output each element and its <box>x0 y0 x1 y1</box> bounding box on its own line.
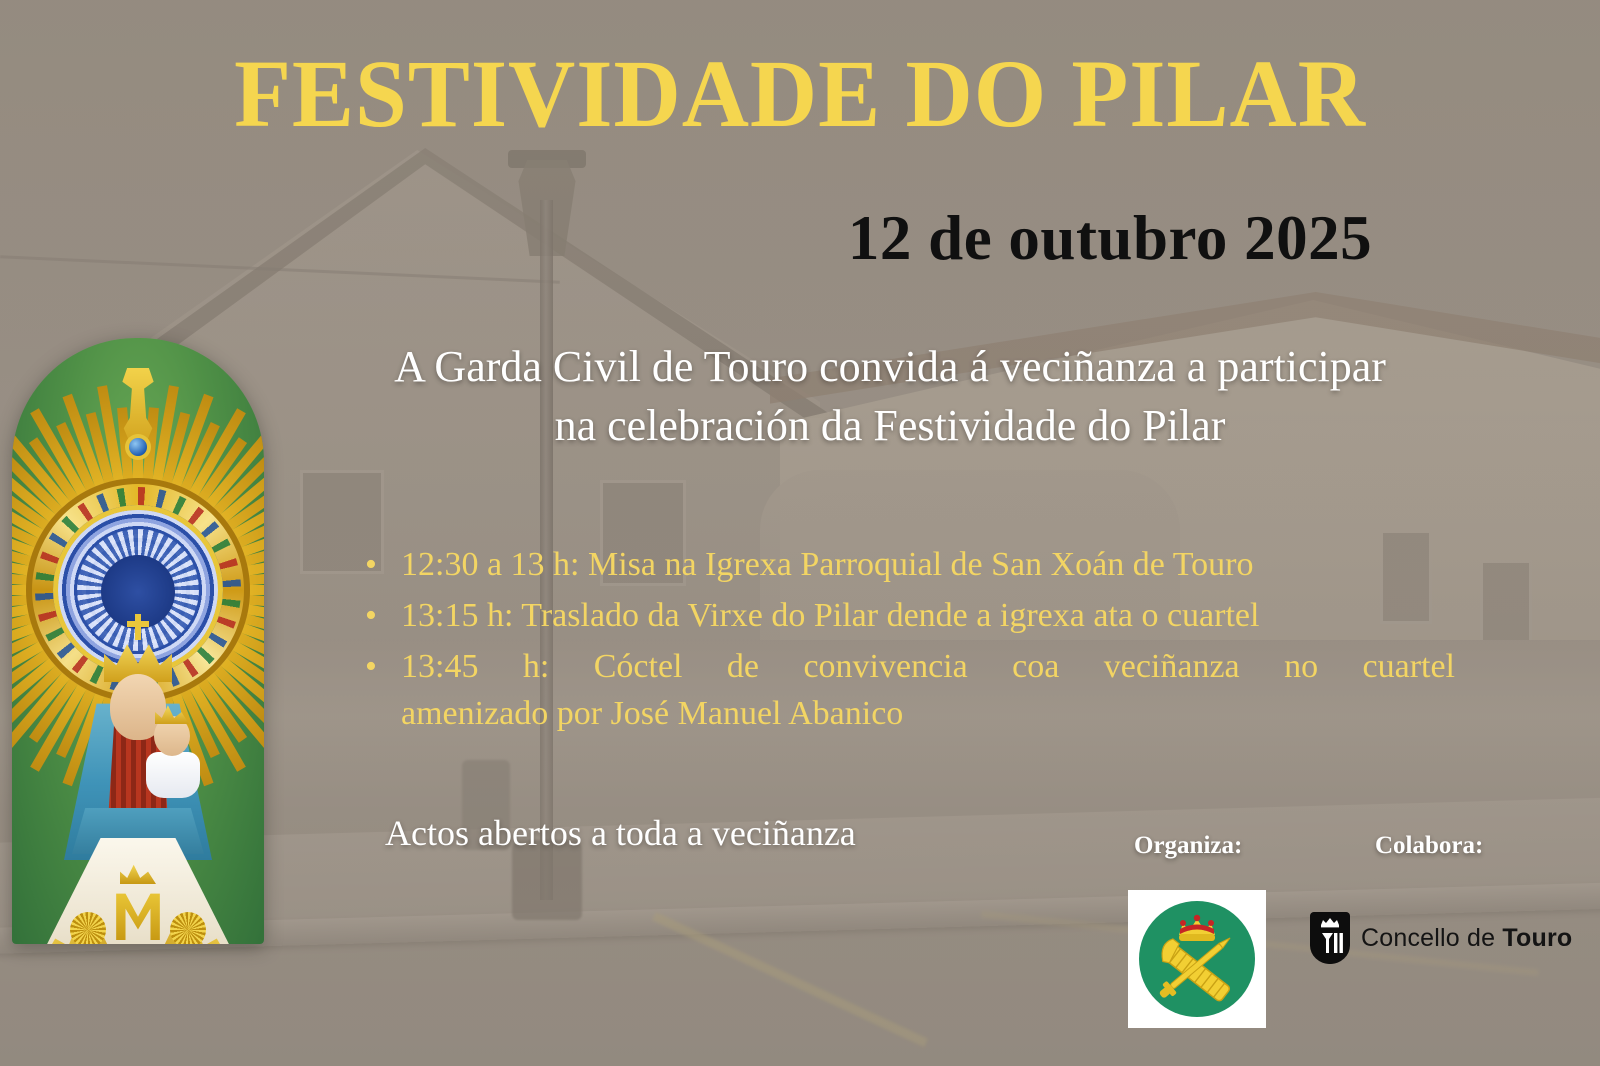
concello-de-touro-text: Concello de Touro <box>1361 924 1572 953</box>
bullet-icon: • <box>365 644 401 691</box>
touro-name: Touro <box>1502 924 1572 952</box>
credits-section: Organiza: Colabora: <box>1110 832 1580 1062</box>
schedule-item-line-1: 13:45 h: Cóctel de convivencia coa veciñ… <box>401 644 1455 691</box>
embroidered-robe <box>34 838 242 944</box>
event-date: 12 de outubro 2025 <box>760 202 1460 275</box>
invitation-line-1: A Garda Civil de Touro convida á veciñan… <box>250 338 1530 397</box>
child-body <box>146 752 200 798</box>
robe-crown-ornament <box>120 864 156 884</box>
invitation-text: A Garda Civil de Touro convida á veciñan… <box>250 338 1530 456</box>
schedule-item: • 13:15 h: Traslado da Virxe do Pilar de… <box>365 593 1455 640</box>
schedule-list: • 12:30 a 13 h: Misa na Igrexa Parroquia… <box>365 542 1455 742</box>
schedule-item-text: 12:30 a 13 h: Misa na Igrexa Parroquial … <box>401 542 1455 589</box>
top-jewel <box>129 438 147 456</box>
bullet-icon: • <box>365 593 401 640</box>
christ-child <box>144 706 202 798</box>
poster-canvas: FESTIVIDADE DO PILAR 12 de outubro 2025 … <box>0 0 1600 1066</box>
invitation-line-2: na celebración da Festividade do Pilar <box>250 397 1530 456</box>
schedule-item-text: 13:15 h: Traslado da Virxe do Pilar dend… <box>401 593 1455 640</box>
robe-rosette <box>70 912 106 944</box>
child-crown <box>155 704 189 724</box>
guardia-civil-emblem-icon <box>1139 901 1255 1017</box>
touro-shield-icon <box>1310 912 1350 964</box>
colabora-label: Colabora: <box>1375 832 1483 860</box>
schedule-item: • 12:30 a 13 h: Misa na Igrexa Parroquia… <box>365 542 1455 589</box>
guardia-civil-logo <box>1128 890 1266 1028</box>
virgen-del-pilar-image <box>12 338 264 944</box>
schedule-item: • 13:45 h: Cóctel de convivencia coa vec… <box>365 644 1455 738</box>
robe-monogram <box>112 882 164 940</box>
robe-rosette <box>170 912 206 944</box>
schedule-item-line-2: amenizado por José Manuel Abanico <box>401 691 1455 738</box>
poster-title: FESTIVIDADE DO PILAR <box>24 46 1576 142</box>
crown-cross <box>135 614 141 640</box>
concello-de-touro-logo: Concello de Touro <box>1310 912 1572 964</box>
open-to-all-note: Actos abertos a toda a veciñanza <box>385 812 856 854</box>
organiza-label: Organiza: <box>1134 832 1242 860</box>
bullet-icon: • <box>365 542 401 589</box>
concello-prefix: Concello de <box>1361 924 1502 952</box>
schedule-item-text: 13:45 h: Cóctel de convivencia coa veciñ… <box>401 644 1455 738</box>
